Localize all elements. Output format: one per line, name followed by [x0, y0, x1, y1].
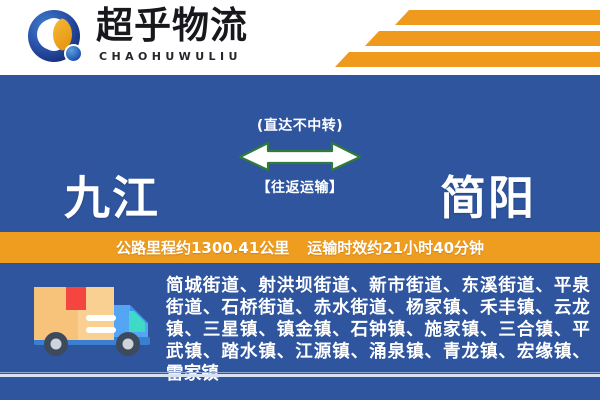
double-headed-arrow-icon: [232, 139, 368, 173]
route-middle-block: (直达不中转) 【往返运输】: [232, 115, 368, 215]
coverage-areas-text: 简城街道、射洪坝街道、新市街道、东溪街道、平泉街道、石桥街道、赤水街道、杨家镇、…: [166, 275, 590, 385]
brand-name-cn: 超乎物流: [96, 4, 248, 48]
brand-logo: [28, 8, 90, 68]
bottom-separator: [0, 374, 600, 377]
logistics-route-poster: 超乎物流 CHAOHUWULIU 九江 (直达不中转) 【往返运输】 简阳 公路…: [0, 0, 600, 400]
roundtrip-note-label: 【往返运输】: [232, 177, 368, 197]
brand-name-en: CHAOHUWULIU: [99, 50, 242, 63]
header-stripes-decoration: [330, 8, 600, 70]
header-stripe-3: [335, 52, 600, 67]
header-stripe-2: [365, 31, 600, 46]
distance-label: 公路里程约1300.41公里: [116, 237, 289, 258]
origin-city: 九江: [64, 172, 160, 224]
logo-dot-icon: [64, 44, 83, 63]
direct-note-label: (直达不中转): [232, 115, 368, 135]
delivery-truck-icon: [30, 279, 160, 361]
header-bar: 超乎物流 CHAOHUWULIU: [0, 0, 600, 75]
duration-label: 运输时效约21小时40分钟: [307, 237, 484, 258]
destination-city: 简阳: [440, 172, 536, 224]
route-panel: 九江 (直达不中转) 【往返运输】 简阳: [0, 75, 600, 228]
header-stripe-1: [395, 10, 600, 25]
route-info-bar: 公路里程约1300.41公里 运输时效约21小时40分钟: [0, 232, 600, 263]
